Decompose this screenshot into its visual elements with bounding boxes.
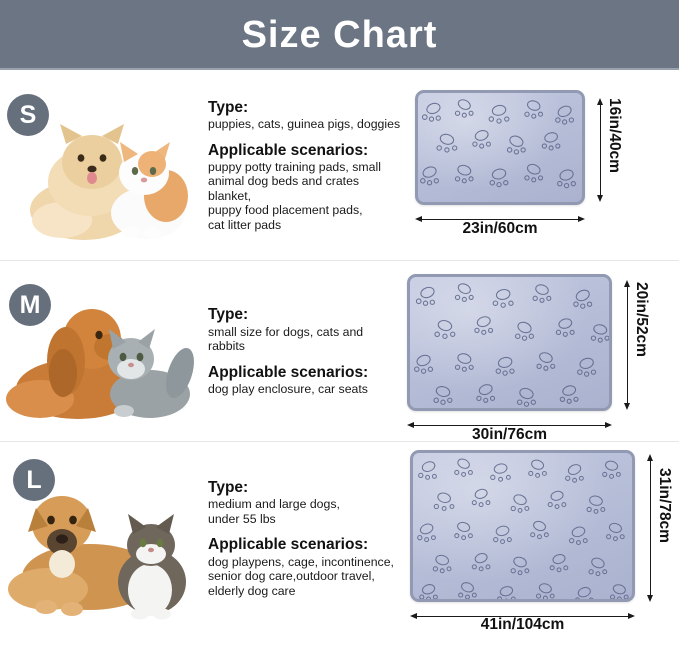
type-label-large: Type: xyxy=(208,478,401,497)
arrow-down-icon xyxy=(647,595,653,602)
scenarios-value-large: dog playpens, cage, incontinence, senior… xyxy=(208,555,401,599)
height-label-medium: 20in/52cm xyxy=(632,282,650,357)
page-header: Size Chart xyxy=(0,0,679,70)
photo-cell-large: L xyxy=(0,442,200,634)
arrow-up-icon xyxy=(624,280,630,287)
pet-pad-small xyxy=(415,90,585,205)
type-label-medium: Type: xyxy=(208,305,401,324)
paw-pattern-large xyxy=(413,453,632,601)
size-row-medium: M xyxy=(0,261,679,441)
scenarios-value-medium: dog play enclosure, car seats xyxy=(208,382,401,397)
arrow-down-icon xyxy=(624,403,630,410)
size-chart-rows: S xyxy=(0,70,679,634)
scenarios-label-large: Applicable scenarios: xyxy=(208,535,401,554)
size-badge-small: S xyxy=(7,94,49,136)
type-value-medium: small size for dogs, cats and rabbits xyxy=(208,325,401,354)
type-label-small: Type: xyxy=(208,98,401,117)
size-row-large: L xyxy=(0,442,679,634)
size-badge-medium: M xyxy=(9,284,51,326)
pad-cell-medium: 30in/76cm 20in/52cm xyxy=(405,261,679,441)
pad-cell-small: 23in/60cm 16in/40cm xyxy=(405,70,679,260)
paw-pattern-small xyxy=(418,93,582,204)
type-value-large: medium and large dogs, under 55 lbs xyxy=(208,497,401,526)
page-title: Size Chart xyxy=(242,16,438,54)
arrow-up-icon xyxy=(647,454,653,461)
width-label-small: 23in/60cm xyxy=(415,220,585,238)
photo-cell-small: S xyxy=(0,70,200,260)
size-badge-large: L xyxy=(13,459,55,501)
paw-pattern-medium xyxy=(410,277,609,410)
text-cell-small: Type: puppies, cats, guinea pigs, doggie… xyxy=(200,98,405,233)
text-cell-medium: Type: small size for dogs, cats and rabb… xyxy=(200,305,405,396)
height-label-small: 16in/40cm xyxy=(605,98,623,173)
scenarios-label-small: Applicable scenarios: xyxy=(208,141,401,160)
pet-pad-medium xyxy=(407,274,612,411)
photo-cell-medium: M xyxy=(0,261,200,441)
arrow-up-icon xyxy=(597,98,603,105)
pet-pad-large xyxy=(410,450,635,602)
size-row-small: S xyxy=(0,70,679,260)
text-cell-large: Type: medium and large dogs, under 55 lb… xyxy=(200,478,405,598)
pad-cell-large: 41in/104cm 31in/78cm xyxy=(405,442,679,634)
scenarios-value-small: puppy potty training pads, small animal … xyxy=(208,160,401,233)
arrow-down-icon xyxy=(597,195,603,202)
height-label-large: 31in/78cm xyxy=(655,468,673,543)
width-label-large: 41in/104cm xyxy=(410,616,635,634)
scenarios-label-medium: Applicable scenarios: xyxy=(208,363,401,382)
type-value-small: puppies, cats, guinea pigs, doggies xyxy=(208,117,401,132)
